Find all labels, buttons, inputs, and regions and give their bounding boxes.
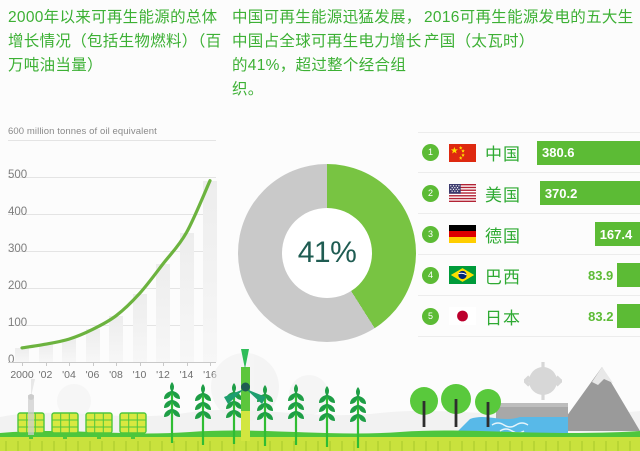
top-producers-list: 1 中国380.62 美国370.23 德国167.44 巴西83	[418, 132, 640, 337]
value-bar-slot: 167.4	[595, 222, 640, 246]
value-label: 83.2	[588, 309, 613, 324]
ranking-row[interactable]: 2 美国370.2	[418, 173, 640, 214]
rank-badge: 1	[422, 144, 439, 161]
country-name: 美国	[485, 181, 521, 206]
infographic-page: 2000年以来可再生能源的总体增长情况（包括生物燃料）（百万吨油当量） 中国可再…	[0, 0, 640, 451]
country-name: 中国	[485, 140, 521, 165]
country-name: 巴西	[485, 263, 521, 288]
flag-china-icon	[449, 144, 476, 162]
page-title-left: 2000年以来可再生能源的总体增长情况（包括生物燃料）（百万吨油当量）	[8, 6, 223, 78]
flag-germany-icon	[449, 225, 476, 243]
value-bar-slot: 380.6	[537, 141, 640, 165]
rank-badge: 2	[422, 185, 439, 202]
page-title-middle: 中国可再生能源迅猛发展，中国占全球可再生电力增长的41%，超过整个经合组织。	[232, 6, 422, 102]
value-bar	[617, 263, 640, 287]
sun-gear-icon	[524, 362, 562, 400]
country-name: 德国	[485, 222, 521, 247]
mountain-icon	[556, 367, 640, 431]
renewable-energy-illustration	[0, 343, 640, 451]
ranking-row[interactable]: 5 日本83.2	[418, 296, 640, 337]
value-bar: 380.6	[537, 141, 640, 165]
ranking-row[interactable]: 1 中国380.6	[418, 132, 640, 173]
field-strip	[0, 437, 640, 451]
rank-badge: 5	[422, 308, 439, 325]
flag-usa-icon	[449, 184, 476, 202]
value-label: 83.9	[588, 268, 613, 283]
donut-percent-label: 41%	[298, 236, 357, 270]
wind-turbine-halo-icon	[57, 353, 329, 421]
flag-brazil-icon	[449, 266, 476, 284]
rank-badge: 4	[422, 267, 439, 284]
tree-icon	[410, 384, 501, 427]
value-bar: 167.4	[595, 222, 640, 246]
wind-turbine-small-icon	[28, 379, 35, 435]
donut-center: 41%	[282, 208, 372, 298]
rank-badge: 3	[422, 226, 439, 243]
flag-japan-icon	[449, 307, 476, 325]
ranking-row[interactable]: 4 巴西83.9	[418, 255, 640, 296]
page-title-right: 2016可再生能源发电的五大生产国（太瓦时）	[424, 6, 636, 54]
hydro-dam-icon	[496, 403, 568, 419]
value-bar: 370.2	[540, 181, 640, 205]
value-bar-slot: 370.2	[540, 181, 640, 205]
value-bar	[617, 304, 640, 328]
country-name: 日本	[485, 304, 521, 329]
value-bar-slot: 83.9	[588, 263, 640, 287]
china-share-donut-chart: 41%	[238, 164, 416, 342]
ranking-row[interactable]: 3 德国167.4	[418, 214, 640, 255]
value-bar-slot: 83.2	[588, 304, 640, 328]
